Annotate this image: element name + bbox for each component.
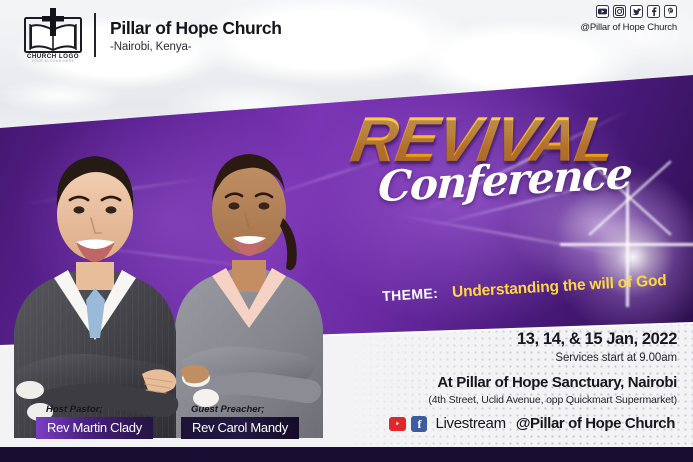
revival-conference-poster: CHURCH LOGO YOUR SLOGAN HERE Pillar of H… [0, 0, 693, 462]
church-location: -Nairobi, Kenya- [110, 41, 282, 53]
guest-preacher-role: Guest Preacher; [191, 404, 299, 415]
guest-preacher-name: Rev Carol Mandy [181, 417, 299, 439]
livestream-handle: @Pillar of Hope Church [516, 415, 675, 432]
youtube-icon[interactable] [389, 417, 406, 431]
theme-row: THEME: Understanding the will of God [382, 272, 667, 306]
guest-preacher-nameplate: Guest Preacher; Rev Carol Mandy [181, 404, 299, 439]
pinterest-icon[interactable] [664, 5, 677, 18]
instagram-icon[interactable] [613, 5, 626, 18]
facebook-icon[interactable]: f [411, 416, 427, 432]
brand-block: CHURCH LOGO YOUR SLOGAN HERE Pillar of H… [22, 8, 282, 62]
brand-divider [94, 13, 96, 57]
youtube-icon[interactable] [596, 5, 609, 18]
livestream-label: Livestream [435, 415, 505, 432]
host-pastor-role: Host Pastor; [46, 404, 153, 415]
host-pastor-figure [14, 156, 178, 438]
host-pastor-name: Rev Martin Clady [36, 417, 153, 439]
bottom-accent-bar [0, 447, 693, 462]
poster-header: CHURCH LOGO YOUR SLOGAN HERE Pillar of H… [0, 0, 693, 72]
host-pastor-nameplate: Host Pastor; Rev Martin Clady [36, 404, 153, 439]
church-name: Pillar of Hope Church [110, 19, 282, 37]
social-block: @Pillar of Hope Church [580, 5, 677, 33]
facebook-icon[interactable] [647, 5, 660, 18]
twitter-icon[interactable] [630, 5, 643, 18]
social-icon-row [580, 5, 677, 18]
social-handle: @Pillar of Hope Church [580, 22, 677, 33]
theme-label: THEME: [382, 285, 439, 304]
brand-text-block: Pillar of Hope Church -Nairobi, Kenya- [110, 17, 282, 52]
event-times: Services start at 9.00am [257, 352, 677, 364]
logo-subcaption: YOUR SLOGAN HERE [32, 59, 75, 62]
church-logo-icon: CHURCH LOGO YOUR SLOGAN HERE [22, 8, 84, 62]
event-venue: At Pillar of Hope Sanctuary, Nairobi [257, 374, 677, 391]
theme-text: Understanding the will of God [452, 272, 667, 302]
hero-title-block: REVIVAL Conference THEME: Understanding … [352, 112, 693, 312]
event-address: (4th Street, Uclid Avenue, opp Quickmart… [257, 394, 677, 406]
livestream-row: f Livestream @Pillar of Hope Church [389, 415, 675, 432]
event-details-block: 13, 14, & 15 Jan, 2022 Services start at… [257, 330, 677, 406]
event-dates: 13, 14, & 15 Jan, 2022 [257, 330, 677, 349]
